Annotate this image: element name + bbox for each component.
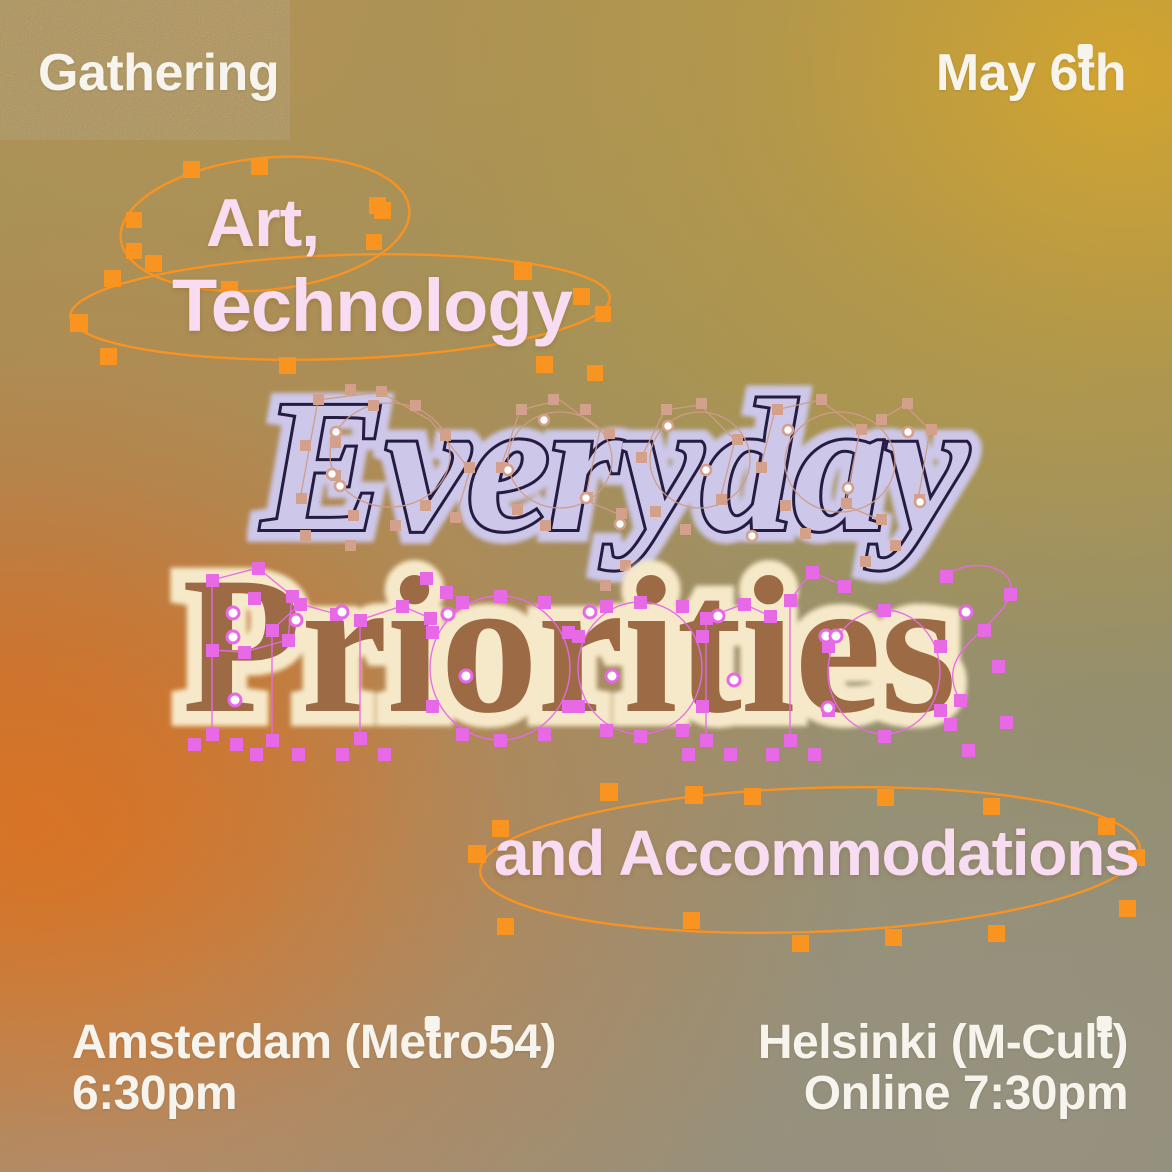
venue-prefix: Helsinki (M-Cul [758, 1016, 1097, 1069]
location-amsterdam-venue: Amsterdam (Metro54) [72, 1018, 556, 1069]
star-decoration-icon: t [1097, 1018, 1112, 1069]
location-helsinki-venue: Helsinki (M-Cult) [758, 1018, 1128, 1069]
event-date-suffix: h [1095, 44, 1126, 102]
title-priorities-fill: Priorities [182, 548, 956, 744]
event-date-label: May 6th [936, 46, 1126, 101]
star-decoration-icon: t [426, 1018, 441, 1069]
location-helsinki-time: Online 7:30pm [758, 1069, 1128, 1120]
star-decoration-icon: t [1078, 46, 1095, 101]
location-amsterdam-time: 6:30pm [72, 1069, 556, 1120]
location-amsterdam: Amsterdam (Metro54) 6:30pm [72, 1018, 556, 1120]
topic-line-art: Art, [206, 184, 319, 262]
event-date-prefix: May 6 [936, 44, 1078, 102]
poster-canvas: Art, Technology Everyday Everyday [0, 0, 1172, 1172]
location-helsinki: Helsinki (M-Cult) Online 7:30pm [758, 1018, 1128, 1120]
title-subline: and Accommodations [494, 816, 1139, 890]
topic-line-technology: Technology [172, 263, 572, 348]
title-priorities: Priorities Priorities [182, 548, 1002, 763]
event-type-label: Gathering [38, 46, 279, 101]
venue-prefix: Amsterdam (Me [72, 1016, 426, 1069]
venue-suffix: ro54) [441, 1016, 556, 1069]
venue-suffix: ) [1113, 1016, 1128, 1069]
title-everyday-outline: Everyday [262, 372, 966, 560]
